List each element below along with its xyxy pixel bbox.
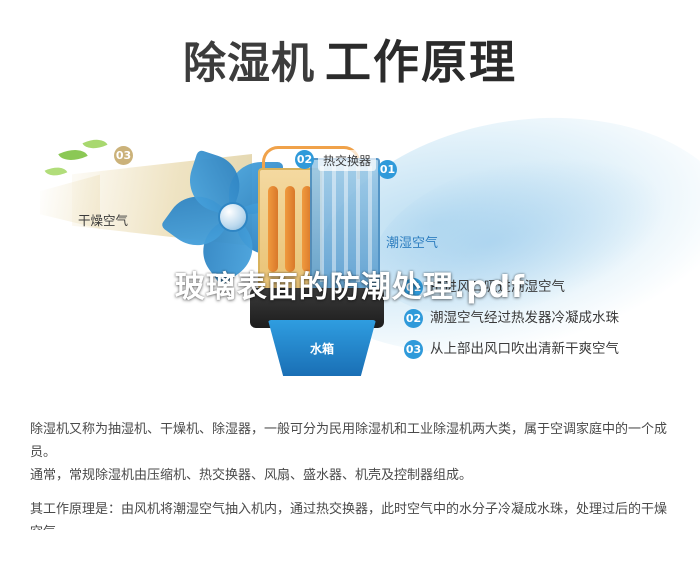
step-text: 潮湿空气经过热发器冷凝成水珠 bbox=[430, 309, 619, 328]
coil-pipe-icon bbox=[268, 186, 278, 272]
title-sub: 工作原理 bbox=[325, 35, 517, 89]
step-text: 从上部出风口吹出清新干爽空气 bbox=[430, 340, 619, 359]
coil-pipe-icon bbox=[285, 186, 295, 272]
callout-label-heat-exchanger: 热交换器 bbox=[318, 150, 376, 171]
leaf-icon bbox=[82, 134, 107, 154]
leaf-icon bbox=[58, 143, 87, 167]
illustration: 水箱 03 干燥空气 02 热交换器 01 潮湿空气 01 由进风口吸进潮湿空气… bbox=[0, 110, 700, 400]
body-paragraph-2: 通常，常规除湿机由压缩机、热交换器、风扇、盛水器、机壳及控制器组成。 bbox=[30, 464, 678, 487]
document-page: 除湿机工作原理 bbox=[0, 0, 700, 566]
callout-badge-humid-air: 01 bbox=[378, 160, 397, 179]
dehumidifier-unit: 水箱 bbox=[258, 168, 376, 338]
callout-label-dry-air: 干燥空气 bbox=[78, 210, 128, 229]
step-number: 03 bbox=[404, 340, 423, 359]
fan-hub-icon bbox=[218, 202, 248, 232]
step-number: 02 bbox=[404, 309, 423, 328]
list-item: 02 潮湿空气经过热发器冷凝成水珠 bbox=[404, 309, 694, 328]
list-item: 03 从上部出风口吹出清新干爽空气 bbox=[404, 340, 694, 359]
page-bottom-margin bbox=[0, 530, 700, 566]
page-title: 除湿机工作原理 bbox=[0, 26, 700, 92]
callout-badge-heat-exchanger: 02 bbox=[295, 150, 314, 169]
leaf-icon bbox=[45, 162, 68, 180]
watermark-filename: 玻璃表面的防潮处理.pdf bbox=[0, 262, 700, 306]
title-main: 除湿机 bbox=[183, 39, 315, 89]
callout-label-humid-air: 潮湿空气 bbox=[386, 232, 438, 251]
body-paragraph-1: 除湿机又称为抽湿机、干燥机、除湿器，一般可分为民用除湿机和工业除湿机两大类，属于… bbox=[30, 418, 678, 464]
callout-badge-dry-air: 03 bbox=[114, 146, 133, 165]
water-tank-label: 水箱 bbox=[290, 340, 354, 357]
